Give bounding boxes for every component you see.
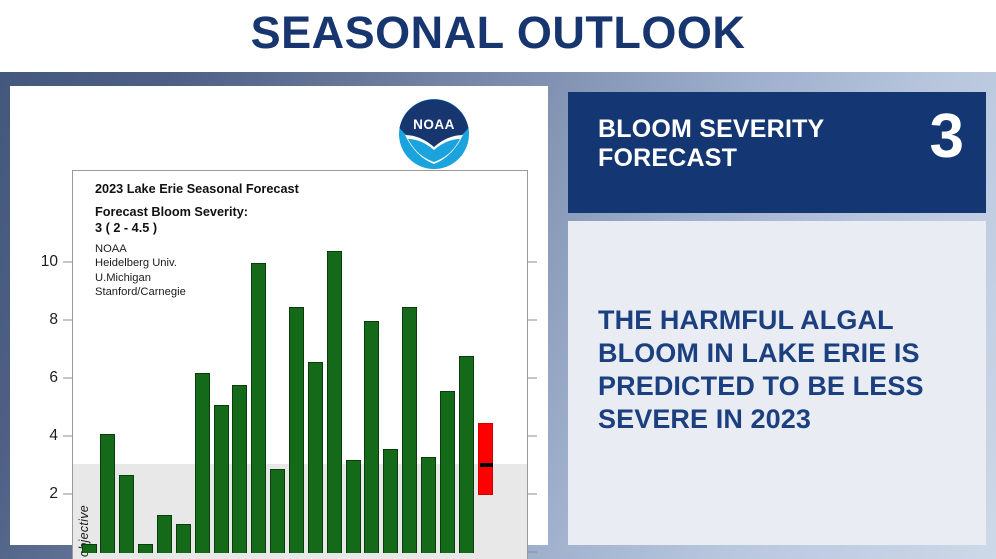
y-tick-mark [63, 378, 72, 379]
bar-2017 [364, 321, 379, 553]
y-tick-mark-right [528, 436, 537, 437]
noaa-logo: NOAA [395, 95, 473, 173]
bar-2020 [421, 457, 436, 553]
y-tick-label: 2 [49, 485, 58, 503]
y-tick-mark-right [528, 494, 537, 495]
y-tick-mark [63, 320, 72, 321]
y-tick-label: 4 [49, 427, 58, 445]
forecast-message-text: THE HARMFUL ALGAL BLOOM IN LAKE ERIE IS … [598, 304, 970, 436]
bar-2006 [157, 515, 172, 553]
y-tick-label: 8 [49, 311, 58, 329]
bloom-severity-forecast-value: 3 [930, 106, 964, 168]
bar-2004 [119, 475, 134, 553]
y-tick-mark-right [528, 378, 537, 379]
bar-2021 [440, 391, 455, 553]
y-tick-mark [63, 436, 72, 437]
bar-2012 [270, 469, 285, 553]
bar-2005 [138, 544, 153, 553]
message-card: THE HARMFUL ALGAL BLOOM IN LAKE ERIE IS … [568, 221, 986, 545]
y-tick-mark [63, 494, 72, 495]
bar-2022 [459, 356, 474, 553]
bar-2015 [327, 251, 342, 553]
page-title: SEASONAL OUTLOOK [0, 9, 996, 56]
bar-2011 [251, 263, 266, 553]
chart-bars [73, 171, 528, 559]
bar-2019 [402, 307, 417, 554]
forecast-median-tick [480, 463, 493, 467]
y-tick-label: 6 [49, 369, 58, 387]
bar-2010 [232, 385, 247, 553]
chart-plot-panel: objective 2023 Lake Erie Seasonal Foreca… [72, 170, 528, 559]
forecast-bar-2023 [478, 423, 493, 496]
y-tick-mark-right [528, 552, 537, 553]
bar-2016 [346, 460, 361, 553]
bar-2018 [383, 449, 398, 553]
y-tick-mark-right [528, 320, 537, 321]
chart-y-axis: 246810 [10, 170, 72, 559]
bar-2003 [100, 434, 115, 553]
bloom-severity-forecast-label: BLOOM SEVERITY FORECAST [598, 115, 888, 172]
bar-2009 [214, 405, 229, 553]
y-tick-mark-right [528, 262, 537, 263]
noaa-logo-text: NOAA [413, 117, 455, 132]
bar-2013 [289, 307, 304, 554]
y-tick-label: 10 [41, 253, 58, 271]
chart-card: 246810 objective 2023 Lake Erie Seasonal… [10, 86, 548, 545]
bar-2002 [82, 544, 97, 553]
chart-y-axis-right [528, 170, 540, 559]
bar-2014 [308, 362, 323, 553]
bloom-severity-forecast-panel: BLOOM SEVERITY FORECAST 3 [568, 92, 986, 213]
title-band: SEASONAL OUTLOOK [0, 0, 996, 72]
y-tick-mark [63, 262, 72, 263]
bar-2008 [195, 373, 210, 553]
bar-2007 [176, 524, 191, 553]
